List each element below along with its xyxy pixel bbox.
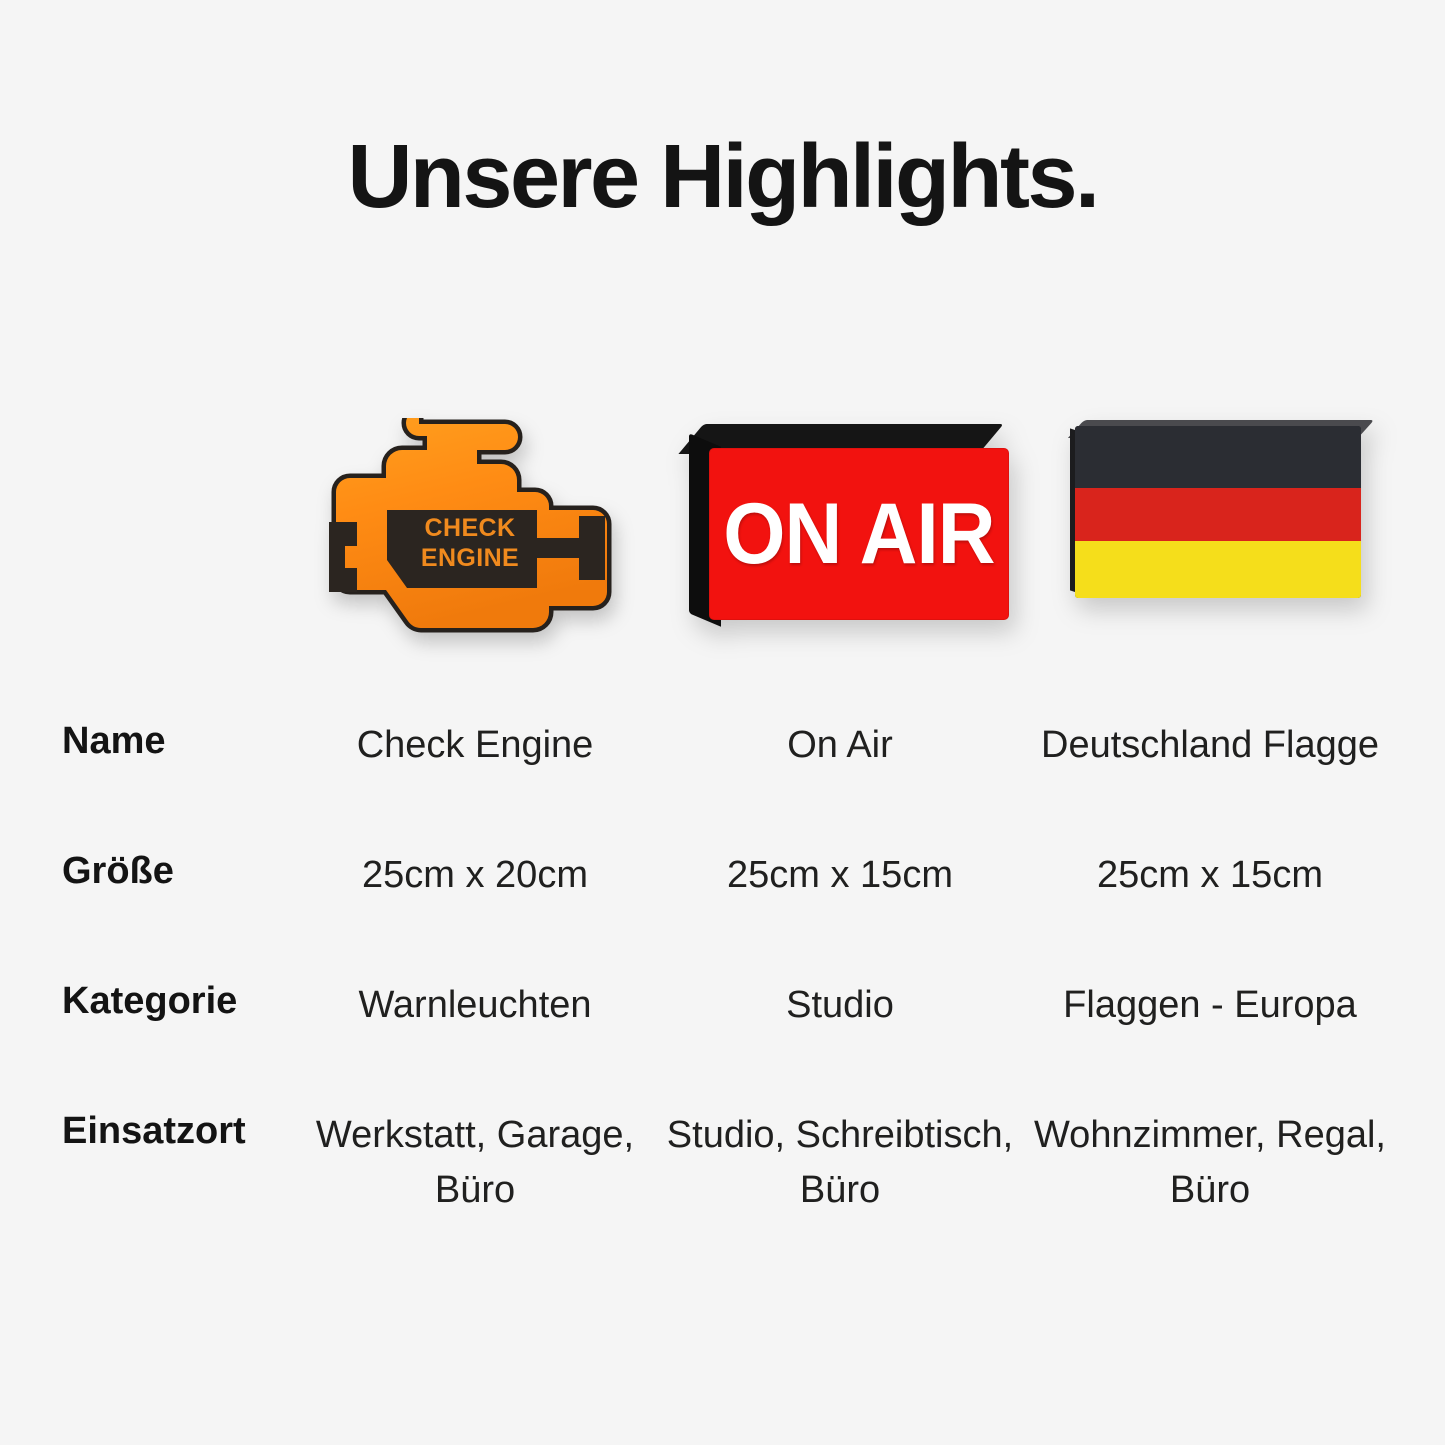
german-flag-front-face	[1075, 426, 1361, 598]
row-label-einsatzort: Einsatzort	[0, 1090, 295, 1156]
on-air-front-face: ON AIR	[709, 448, 1009, 620]
cell-kategorie-on-air: Studio	[655, 960, 1025, 1033]
on-air-label: ON AIR	[723, 491, 994, 577]
product-image-on-air[interactable]: ON AIR	[655, 400, 1025, 670]
german-flag-lightbox	[1068, 414, 1388, 624]
cell-einsatzort-on-air: Studio, Schreibtisch, Büro	[655, 1090, 1025, 1218]
flag-band-red	[1075, 488, 1361, 541]
product-image-row: CHECK ENGINE ON AIR	[0, 400, 1445, 670]
table-row: Kategorie Warnleuchten Studio Flaggen - …	[0, 960, 1445, 1090]
check-engine-lamp-icon: CHECK ENGINE	[323, 418, 623, 650]
cell-einsatzort-check-engine: Werkstatt, Garage, Büro	[295, 1090, 655, 1218]
row-label-groesse: Größe	[0, 830, 295, 896]
row-label-kategorie: Kategorie	[0, 960, 295, 1026]
cell-groesse-on-air: 25cm x 15cm	[655, 830, 1025, 903]
cell-einsatzort-flagge: Wohnzimmer, Regal, Büro	[1025, 1090, 1395, 1218]
cell-name-check-engine: Check Engine	[295, 700, 655, 773]
table-row: Größe 25cm x 20cm 25cm x 15cm 25cm x 15c…	[0, 830, 1445, 960]
page-title: Unsere Highlights.	[0, 132, 1445, 222]
cell-kategorie-flagge: Flaggen - Europa	[1025, 960, 1395, 1033]
flag-band-yellow	[1075, 541, 1361, 598]
table-row: Name Check Engine On Air Deutschland Fla…	[0, 700, 1445, 830]
cell-groesse-check-engine: 25cm x 20cm	[295, 830, 655, 903]
product-image-deutschland-flagge[interactable]	[1030, 400, 1400, 670]
row-label-name: Name	[0, 700, 295, 766]
cell-name-on-air: On Air	[655, 700, 1025, 773]
cell-name-flagge: Deutschland Flagge	[1025, 700, 1395, 773]
cell-groesse-flagge: 25cm x 15cm	[1025, 830, 1395, 903]
on-air-lightbox: ON AIR	[675, 418, 1005, 628]
cell-kategorie-check-engine: Warnleuchten	[295, 960, 655, 1033]
spec-table: Name Check Engine On Air Deutschland Fla…	[0, 700, 1445, 1260]
table-row: Einsatzort Werkstatt, Garage, Büro Studi…	[0, 1090, 1445, 1260]
product-image-check-engine[interactable]: CHECK ENGINE	[295, 400, 650, 670]
flag-band-black	[1075, 426, 1361, 488]
